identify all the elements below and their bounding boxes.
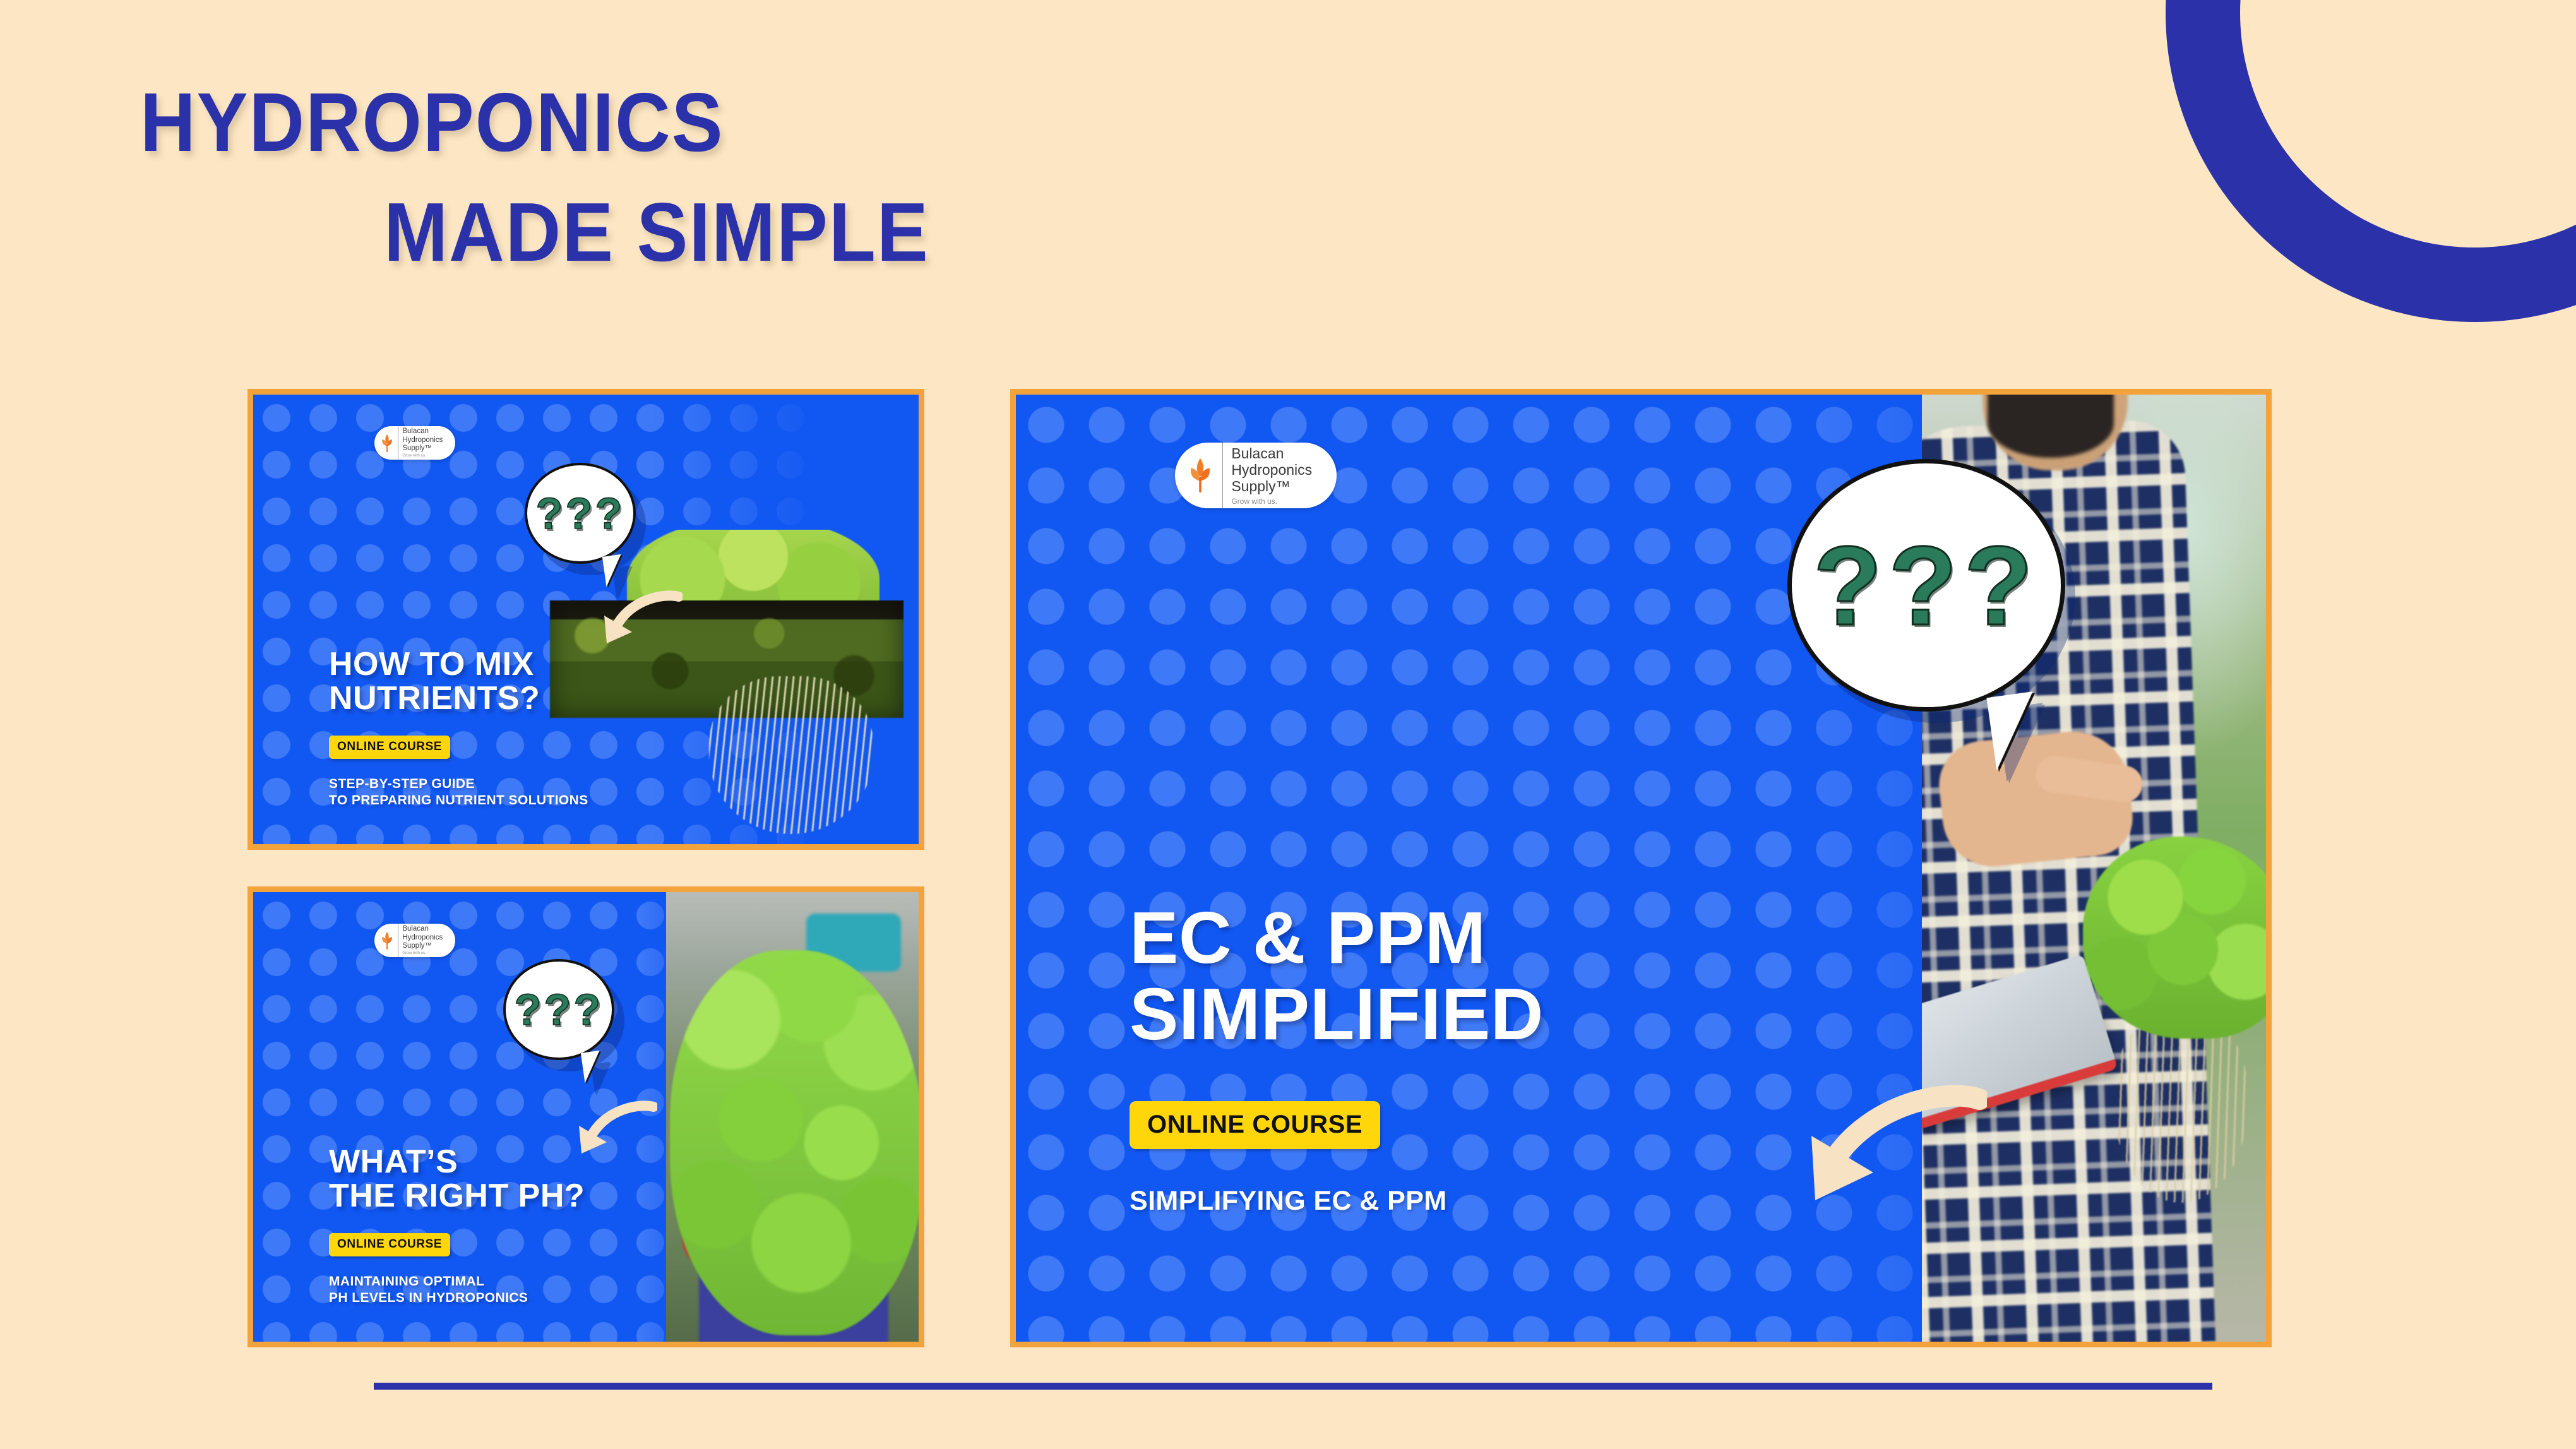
decorative-arc: [2166, 0, 2576, 322]
brand-logo-badge: Bulacan Hydroponics Supply™ Grow with us…: [374, 924, 455, 957]
card-title-line-2: NUTRIENTS?: [329, 681, 588, 715]
brand-name-line-1: Bulacan: [402, 427, 450, 436]
sprout-hand-icon: [380, 930, 394, 951]
logo-divider: [398, 924, 398, 957]
card-text-block: WHAT’S THE RIGHT PH? ONLINE COURSE MAINT…: [329, 1145, 585, 1306]
speech-bubble-tail: [1986, 689, 2058, 771]
question-speech-bubble: ???: [1787, 459, 2065, 712]
question-speech-bubble: ???: [525, 463, 636, 564]
brand-tagline: Grow with us.: [402, 951, 450, 956]
brand-logo-text: Bulacan Hydroponics Supply™ Grow with us…: [402, 427, 450, 458]
card-title-line-1: EC & PPM: [1130, 900, 1544, 976]
question-marks-text: ???: [515, 984, 604, 1035]
brand-tagline: Grow with us.: [1231, 498, 1325, 506]
question-marks-text: ???: [1813, 521, 2039, 650]
brand-name-line-2: Hydroponics Supply™: [402, 436, 450, 453]
sprout-hand-icon: [1186, 455, 1214, 496]
card-title-line-2: SIMPLIFIED: [1130, 976, 1544, 1052]
online-course-badge[interactable]: ONLINE COURSE: [329, 736, 450, 759]
logo-divider: [398, 426, 398, 460]
speech-bubble-tail: [602, 553, 631, 587]
card-title-line-2: THE RIGHT PH?: [329, 1179, 585, 1213]
brand-name-line-2: Hydroponics Supply™: [1231, 462, 1325, 494]
card-photo-lettuce-roots: [532, 530, 919, 845]
brand-logo-badge: Bulacan Hydroponics Supply™ Grow with us…: [1175, 443, 1337, 508]
card-subtitle: STEP-BY-STEP GUIDE TO PREPARING NUTRIENT…: [329, 776, 588, 808]
online-course-badge[interactable]: ONLINE COURSE: [1130, 1101, 1380, 1149]
card-title-line-1: HOW TO MIX: [329, 647, 588, 681]
bottom-divider-rule: [374, 1383, 2212, 1390]
question-marks-text: ???: [536, 488, 625, 539]
brand-name-line-1: Bulacan: [1231, 445, 1325, 462]
speech-bubble-tail: [581, 1049, 610, 1083]
brand-logo-text: Bulacan Hydroponics Supply™ Grow with us…: [1231, 445, 1325, 506]
brand-tagline: Grow with us.: [402, 454, 450, 458]
sprout-hand-icon: [380, 432, 394, 454]
card-title-line-1: WHAT’S: [329, 1145, 585, 1179]
online-course-badge[interactable]: ONLINE COURSE: [329, 1233, 450, 1256]
page-title-line-1: HYDROPONICS: [140, 81, 1418, 164]
card-text-block: EC & PPM SIMPLIFIED ONLINE COURSE SIMPLI…: [1130, 900, 1544, 1218]
page-title-line-2: MADE SIMPLE: [384, 191, 1438, 274]
course-card-how-to-mix-nutrients[interactable]: Bulacan Hydroponics Supply™ Grow with us…: [247, 389, 924, 850]
card-subtitle: SIMPLIFYING EC & PPM: [1130, 1184, 1544, 1217]
question-speech-bubble: ???: [503, 959, 614, 1060]
page-title: HYDROPONICS MADE SIMPLE: [140, 81, 1529, 274]
card-photo-leaf-lettuce: [666, 892, 919, 1342]
logo-divider: [1222, 443, 1223, 508]
brand-name-line-1: Bulacan: [402, 925, 450, 933]
course-card-whats-the-right-ph[interactable]: Bulacan Hydroponics Supply™ Grow with us…: [247, 886, 924, 1347]
brand-logo-text: Bulacan Hydroponics Supply™ Grow with us…: [402, 925, 450, 955]
course-card-ec-and-ppm-simplified[interactable]: Bulacan Hydroponics Supply™ Grow with us…: [1010, 389, 2272, 1347]
brand-name-line-2: Hydroponics Supply™: [402, 934, 450, 950]
card-text-block: HOW TO MIX NUTRIENTS? ONLINE COURSE STEP…: [329, 647, 588, 808]
brand-logo-badge: Bulacan Hydroponics Supply™ Grow with us…: [374, 426, 455, 460]
card-subtitle: MAINTAINING OPTIMAL PH LEVELS IN HYDROPO…: [329, 1273, 585, 1306]
